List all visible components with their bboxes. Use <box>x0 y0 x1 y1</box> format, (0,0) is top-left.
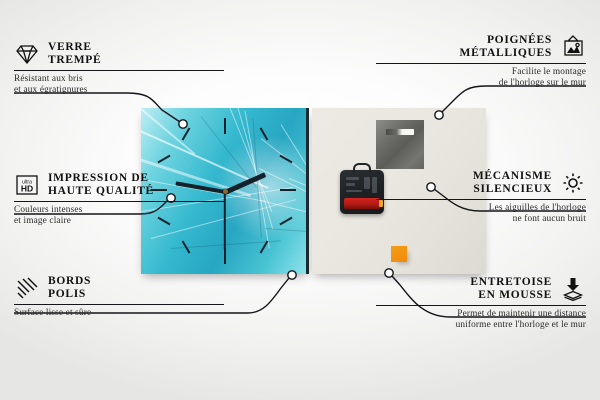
feature-subtitle-line1: Couleurs intenses <box>14 205 224 216</box>
gear-icon <box>560 170 586 196</box>
hanger-plate <box>376 120 424 169</box>
feature-verre-trempe: VERRE TREMPÉ Résistant aux bris et aux é… <box>14 41 224 96</box>
feature-title-line1: BORDS <box>48 275 91 288</box>
feature-subtitle-line1: Résistant aux bris <box>14 74 224 85</box>
second-hand <box>224 192 226 250</box>
feature-header: POIGNÉES MÉTALLIQUES <box>376 34 586 60</box>
picture-hanger-icon <box>560 34 586 60</box>
battery <box>344 198 380 209</box>
feature-title-line2: POLIS <box>48 288 91 301</box>
feature-title-line2: HAUTE QUALITÉ <box>48 185 154 198</box>
tick-6 <box>224 248 226 264</box>
feature-subtitle-line1: Permet de maintenir une distance <box>376 309 586 320</box>
feature-header: BORDS POLIS <box>14 275 224 301</box>
infographic-canvas: VERRE TREMPÉ Résistant aux bris et aux é… <box>0 0 600 400</box>
tick-12 <box>224 118 226 134</box>
diamond-icon <box>14 41 40 67</box>
foam-spacer-icon <box>560 276 586 302</box>
feature-title-line1: POIGNÉES <box>460 34 552 47</box>
feature-rule <box>14 70 224 71</box>
feature-subtitle-line2: uniforme entre l'horloge et le mur <box>376 320 586 331</box>
feature-header: ultra HD IMPRESSION DE HAUTE QUALITÉ <box>14 172 224 198</box>
feature-rule <box>14 201 224 202</box>
feature-title-line1: IMPRESSION DE <box>48 172 154 185</box>
feature-subtitle-line2: ne font aucun bruit <box>376 214 586 225</box>
ultra-hd-icon: ultra HD <box>14 172 40 198</box>
feature-title-line1: VERRE <box>48 41 101 54</box>
svg-text:HD: HD <box>21 184 33 194</box>
feature-header: VERRE TREMPÉ <box>14 41 224 67</box>
feature-header: MÉCANISME SILENCIEUX <box>376 170 586 196</box>
polished-edges-icon <box>14 275 40 301</box>
feature-rule <box>376 199 586 200</box>
feature-title-line2: MÉTALLIQUES <box>460 47 552 60</box>
feature-rule <box>376 63 586 64</box>
feature-subtitle-line1: Les aiguilles de l'horloge <box>376 203 586 214</box>
feature-subtitle-line2: et image claire <box>14 216 224 227</box>
feature-title-line2: TREMPÉ <box>48 54 101 67</box>
feature-rule <box>14 304 224 305</box>
feature-impression-haute-qualite: ultra HD IMPRESSION DE HAUTE QUALITÉ Cou… <box>14 172 224 227</box>
feature-mecanisme-silencieux: MÉCANISME SILENCIEUX Les aiguilles de l'… <box>376 170 586 225</box>
feature-title-line2: EN MOUSSE <box>470 289 552 302</box>
mechanism-hanging-loop <box>353 163 371 173</box>
feature-subtitle-line2: et aux égratignures <box>14 85 224 96</box>
feature-title-line1: MÉCANISME <box>473 170 552 183</box>
feature-subtitle-line2: de l'horloge sur le mur <box>376 78 586 89</box>
feature-title-line1: ENTRETOISE <box>470 276 552 289</box>
foam-spacer <box>391 246 407 262</box>
feature-rule <box>376 305 586 306</box>
feature-subtitle-line1: Facilite le montage <box>376 67 586 78</box>
hanger-keyhole-slot <box>386 129 414 135</box>
feature-bords-polis: BORDS POLIS Surface lisse et sûre <box>14 275 224 319</box>
feature-entretoise-en-mousse: ENTRETOISE EN MOUSSE Permet de maintenir… <box>376 276 586 331</box>
tick-3 <box>280 189 296 191</box>
feature-header: ENTRETOISE EN MOUSSE <box>376 276 586 302</box>
feature-poignees-metalliques: POIGNÉES MÉTALLIQUES Facilite le montage… <box>376 34 586 89</box>
feature-subtitle-line1: Surface lisse et sûre <box>14 308 224 319</box>
feature-title-line2: SILENCIEUX <box>473 183 552 196</box>
